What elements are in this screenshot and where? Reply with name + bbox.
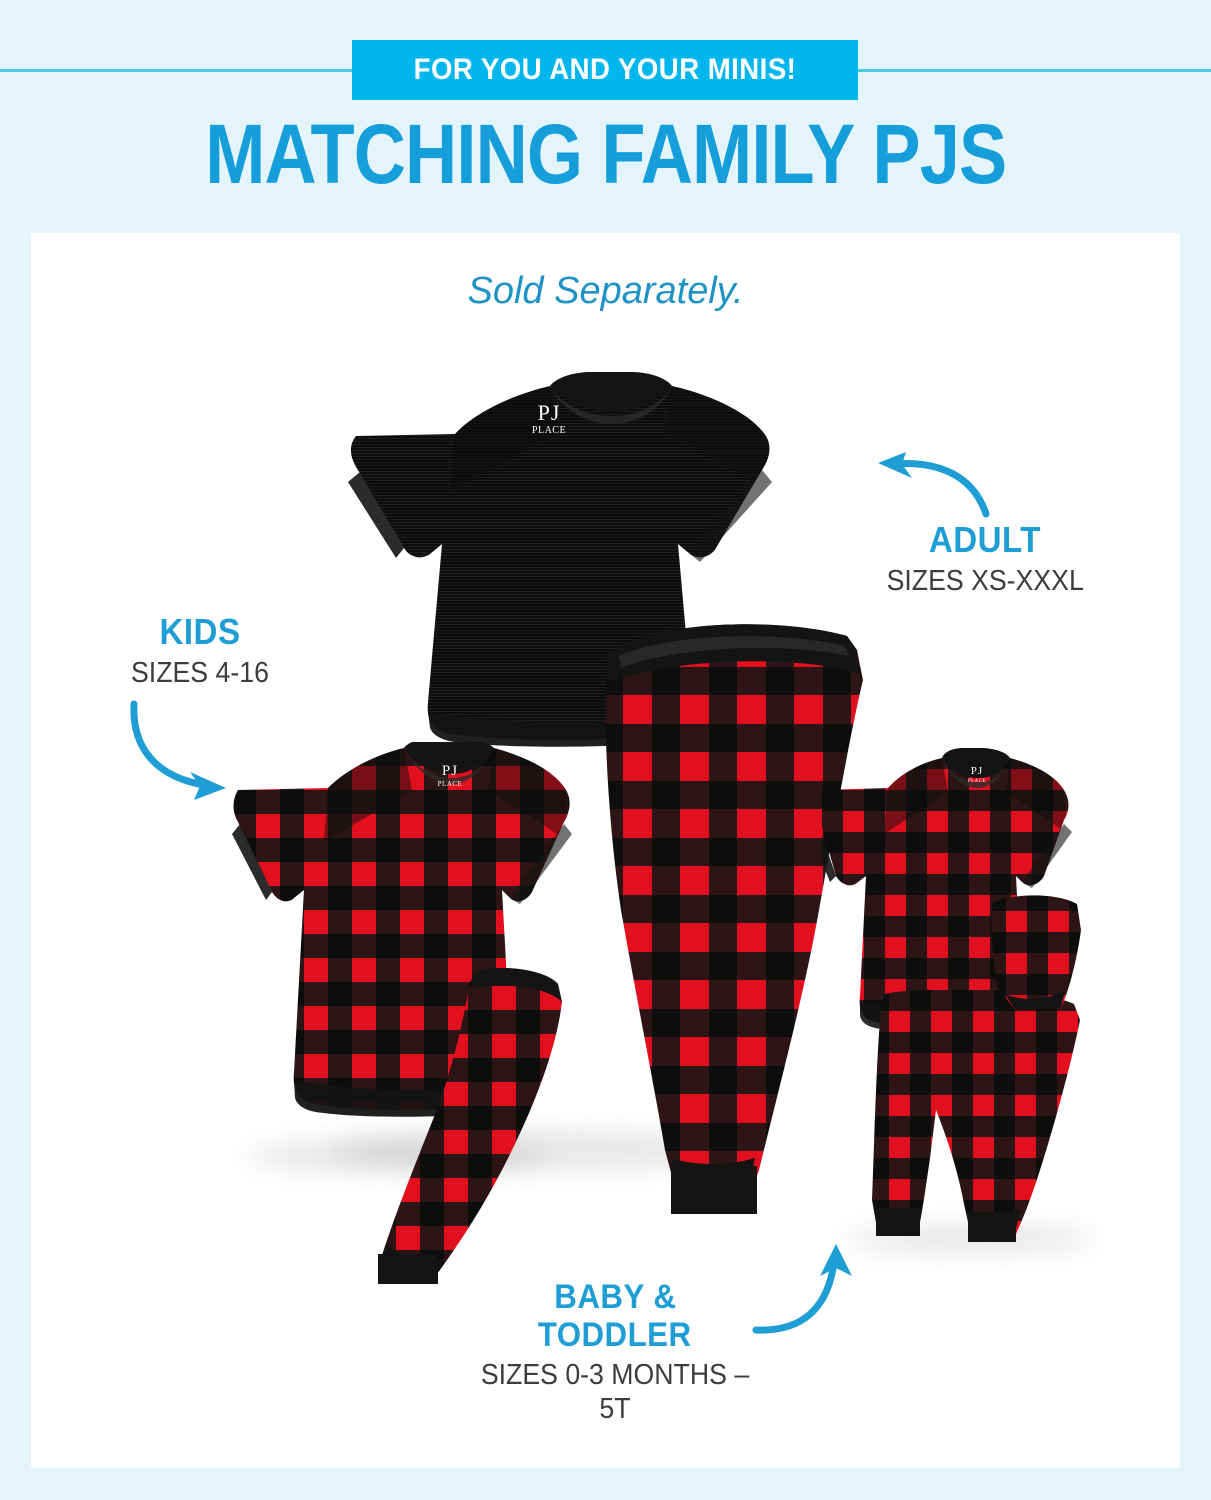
- eyebrow-text: FOR YOU AND YOUR MINIS!: [414, 53, 797, 87]
- callout-baby-sizes: SIZES 0-3 MONTHS – 5T: [450, 1358, 780, 1426]
- callout-baby-title-line1: BABY &: [450, 1278, 780, 1316]
- brand-tag-adult: PJ PLACE: [518, 402, 580, 436]
- callout-adult-title: ADULT: [820, 520, 1150, 560]
- brand-tag-line2: PLACE: [428, 781, 472, 788]
- arrow-to-adult-icon: [862, 448, 992, 518]
- brand-tag-toddler: PJ PLACE: [960, 766, 994, 784]
- eyebrow-banner: FOR YOU AND YOUR MINIS!: [352, 40, 858, 100]
- toddler-sleeve-fold: [985, 890, 1085, 1020]
- toddler-pants: [868, 990, 1093, 1250]
- brand-tag-line1: PJ: [518, 402, 580, 424]
- promo-stage: FOR YOU AND YOUR MINIS! MATCHING FAMILY …: [0, 0, 1211, 1500]
- arrow-to-kids-icon: [128, 700, 248, 805]
- callout-kids-title: KIDS: [60, 612, 340, 652]
- callout-kids-sizes: SIZES 4-16: [60, 656, 340, 690]
- callout-kids: KIDS SIZES 4-16: [60, 612, 340, 690]
- callout-baby-title-line1-text: BABY &: [554, 1278, 676, 1316]
- callout-baby-title-line2: TODDLER: [450, 1316, 780, 1354]
- sold-separately-note: Sold Separately.: [0, 270, 1211, 313]
- callout-adult-title-text: ADULT: [929, 520, 1041, 560]
- brand-tag-kids: PJ PLACE: [428, 764, 472, 788]
- page-title-text: MATCHING FAMILY PJS: [205, 112, 1006, 196]
- callout-baby-sizes-text: SIZES 0-3 MONTHS – 5T: [463, 1358, 767, 1426]
- brand-tag-line2: PLACE: [518, 426, 580, 436]
- callout-adult: ADULT SIZES XS-XXXL: [820, 520, 1150, 598]
- callout-kids-sizes-text: SIZES 4-16: [131, 656, 269, 690]
- brand-tag-line1: PJ: [428, 764, 472, 779]
- callout-adult-sizes-text: SIZES XS-XXXL: [886, 564, 1083, 598]
- callout-adult-sizes: SIZES XS-XXXL: [820, 564, 1150, 598]
- brand-tag-line2: PLACE: [960, 779, 994, 784]
- callout-baby-title-line2-text: TODDLER: [538, 1316, 692, 1354]
- callout-baby-toddler: BABY & TODDLER SIZES 0-3 MONTHS – 5T: [450, 1278, 780, 1426]
- brand-tag-line1: PJ: [960, 766, 994, 777]
- kids-pants: [372, 962, 602, 1292]
- page-title: MATCHING FAMILY PJS: [0, 112, 1211, 196]
- arrow-to-baby-icon: [752, 1240, 862, 1350]
- callout-kids-title-text: KIDS: [160, 612, 241, 652]
